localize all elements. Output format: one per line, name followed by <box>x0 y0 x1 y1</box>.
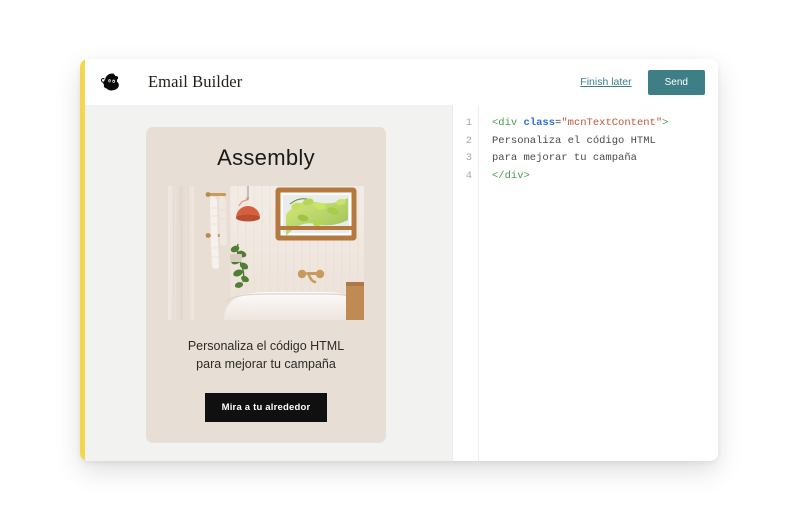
code-token-text: Personaliza el código HTML <box>492 135 656 147</box>
email-cta-wrap: Mira a tu alrededor <box>146 393 386 422</box>
code-token-attr: class <box>524 117 556 129</box>
email-body-text: Personaliza el código HTML para mejorar … <box>146 338 386 374</box>
email-card[interactable]: Assembly <box>146 127 386 443</box>
builder-body: Assembly <box>80 105 718 461</box>
code-line[interactable]: </div> <box>492 168 718 186</box>
email-body-line-1: Personaliza el código HTML <box>162 338 370 356</box>
code-text-area[interactable]: <div class="mcnTextContent">Personaliza … <box>479 105 718 461</box>
code-token-tag: </div> <box>492 170 530 182</box>
email-preview-pane[interactable]: Assembly <box>80 105 452 461</box>
send-button[interactable]: Send <box>648 70 705 95</box>
code-token-text: para mejorar tu campaña <box>492 152 637 164</box>
email-heading: Assembly <box>146 145 386 171</box>
code-token-str: "mcnTextContent" <box>561 117 662 129</box>
email-builder-window: Email Builder Finish later Send Assembly <box>80 59 718 461</box>
line-number: 1 <box>453 115 472 133</box>
app-header: Email Builder Finish later Send <box>80 59 718 105</box>
code-line[interactable]: <div class="mcnTextContent"> <box>492 115 718 133</box>
bathroom-photo <box>168 186 364 320</box>
line-number: 4 <box>453 168 472 186</box>
mailchimp-freddie-icon <box>98 69 124 95</box>
line-number-gutter: 1 2 3 4 <box>453 105 479 461</box>
html-code-editor[interactable]: 1 2 3 4 <div class="mcnTextContent">Pers… <box>452 105 718 461</box>
code-line[interactable]: para mejorar tu campaña <box>492 150 718 168</box>
code-token-tag: <div <box>492 117 524 129</box>
yellow-accent-rail <box>80 59 85 461</box>
code-line[interactable]: Personaliza el código HTML <box>492 133 718 151</box>
line-number: 3 <box>453 150 472 168</box>
page-title: Email Builder <box>148 72 242 92</box>
line-number: 2 <box>453 133 472 151</box>
finish-later-link[interactable]: Finish later <box>580 76 631 88</box>
email-body-line-2: para mejorar tu campaña <box>162 356 370 374</box>
code-token-tag: > <box>662 117 668 129</box>
header-actions: Finish later Send <box>580 70 705 95</box>
email-cta-button[interactable]: Mira a tu alrededor <box>205 393 328 422</box>
